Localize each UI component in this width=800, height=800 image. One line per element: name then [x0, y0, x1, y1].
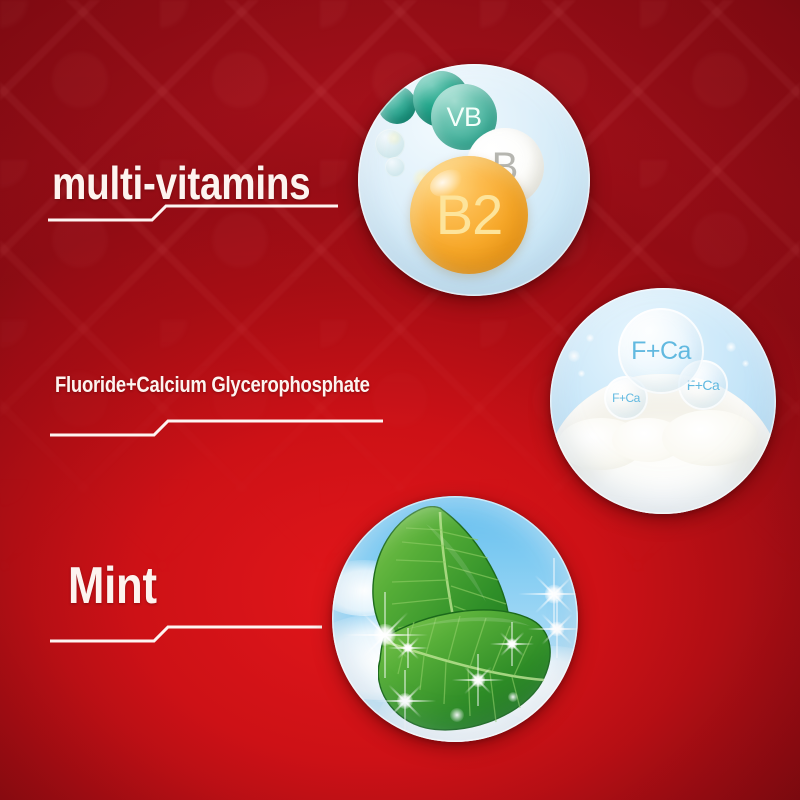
sparkle-dot [508, 692, 518, 702]
sparkle-dot [586, 334, 594, 342]
fluoride-foam-badge: F+Ca F+Ca F+Ca [550, 288, 776, 514]
b2-bubble-label: B2 [410, 156, 528, 274]
accent-rule-multi-vitamins [48, 203, 338, 233]
mint-leaf-lower [378, 604, 556, 736]
fca-bubble-left-label: F+Ca [612, 392, 640, 404]
b2-bubble: B2 [410, 156, 528, 274]
ingredient-infographic-poster: multi-vitamins VB B B2 Fluoride+Calcium … [0, 0, 800, 800]
fca-bubble-large: F+Ca [618, 308, 704, 394]
accent-rule-mint [50, 624, 322, 654]
feature-label-mint: Mint [68, 556, 157, 616]
sparkle-dot [568, 350, 580, 362]
sparkle-dot [726, 342, 736, 352]
fca-bubble-large-label: F+Ca [631, 339, 691, 364]
ghost-bubble [375, 129, 405, 159]
mint-leaf-badge [332, 496, 578, 742]
ghost-bubble [385, 157, 405, 177]
sparkle-dot [578, 370, 585, 377]
teal-bubble-small [378, 86, 416, 124]
feature-label-multi-vitamins: multi-vitamins [52, 156, 310, 210]
sparkle-dot [450, 708, 464, 722]
foam-lobe [662, 410, 758, 466]
feature-label-fluoride-calcium: Fluoride+Calcium Glycerophosphate [55, 372, 370, 398]
vitamin-bubbles-badge: VB B B2 [358, 64, 590, 296]
sparkle-dot [742, 360, 749, 367]
accent-rule-fluoride-calcium [50, 418, 383, 448]
